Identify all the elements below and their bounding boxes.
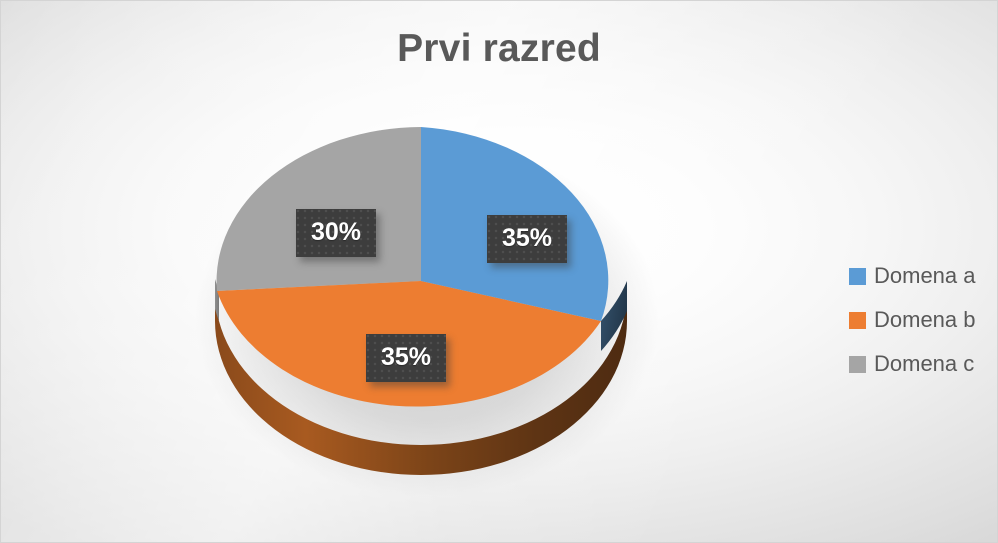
legend-swatch-icon-domena-b bbox=[849, 312, 866, 329]
pie-chart-3d[interactable] bbox=[183, 109, 683, 509]
legend-item-domena-a[interactable]: Domena a bbox=[837, 254, 993, 298]
data-label-domena-c: 30% bbox=[296, 209, 376, 257]
data-label-domena-b: 35% bbox=[366, 334, 446, 382]
legend-label-domena-c: Domena c bbox=[874, 351, 974, 377]
pie-svg bbox=[183, 109, 683, 509]
legend-label-domena-a: Domena a bbox=[874, 263, 976, 289]
legend-swatch-icon-domena-a bbox=[849, 268, 866, 285]
data-label-domena-a: 35% bbox=[487, 215, 567, 263]
legend-label-domena-b: Domena b bbox=[874, 307, 976, 333]
legend-item-domena-c[interactable]: Domena c bbox=[837, 342, 993, 386]
chart-canvas: Prvi razred bbox=[0, 0, 998, 543]
legend-item-domena-b[interactable]: Domena b bbox=[837, 298, 993, 342]
chart-legend: Domena a Domena b Domena c bbox=[837, 246, 993, 396]
legend-swatch-icon-domena-c bbox=[849, 356, 866, 373]
chart-title: Prvi razred bbox=[1, 27, 997, 71]
